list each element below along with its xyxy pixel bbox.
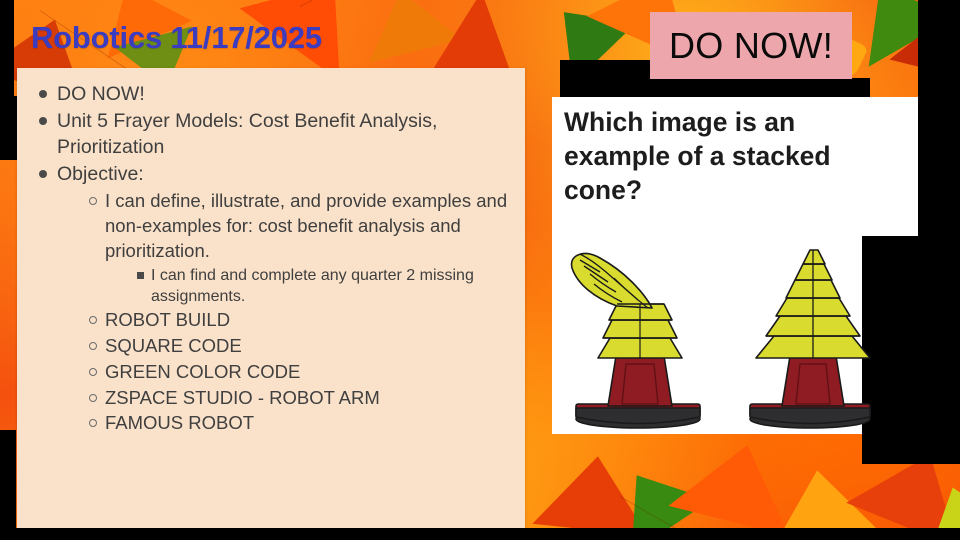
bullet-glyph	[137, 272, 144, 279]
agenda-list: DO NOW!Unit 5 Frayer Models: Cost Benefi…	[17, 68, 525, 436]
agenda-item: I can define, illustrate, and provide ex…	[17, 189, 515, 263]
agenda-item-label: ROBOT BUILD	[105, 308, 515, 333]
bullet-circle-icon	[17, 189, 105, 205]
agenda-item-label: Objective:	[57, 162, 515, 187]
bullet-glyph	[89, 342, 97, 350]
agenda-item-label: DO NOW!	[57, 82, 515, 107]
bullet-disc-icon	[17, 162, 57, 178]
bullet-disc-icon	[17, 82, 57, 98]
bullet-square-icon	[17, 265, 151, 279]
agenda-panel: DO NOW!Unit 5 Frayer Models: Cost Benefi…	[17, 68, 525, 528]
do-now-banner: DO NOW!	[650, 12, 852, 79]
bullet-glyph	[89, 394, 97, 402]
agenda-item: DO NOW!	[17, 82, 515, 107]
do-now-question: Which image is an example of a stacked c…	[564, 106, 894, 208]
agenda-item: ROBOT BUILD	[17, 308, 515, 333]
bullet-glyph	[89, 419, 97, 427]
bullet-glyph	[39, 117, 47, 125]
letterbox-bar-left-mid	[0, 96, 18, 160]
straight-cone-svg	[740, 238, 890, 430]
do-now-banner-label: DO NOW!	[669, 28, 833, 64]
agenda-item-label: I can find and complete any quarter 2 mi…	[151, 265, 515, 308]
agenda-item: Objective:	[17, 162, 515, 187]
bullet-circle-icon	[17, 308, 105, 324]
agenda-item: FAMOUS ROBOT	[17, 411, 515, 436]
bullet-circle-icon	[17, 360, 105, 376]
agenda-item: I can find and complete any quarter 2 mi…	[17, 265, 515, 308]
agenda-item-label: SQUARE CODE	[105, 334, 515, 359]
agenda-item-label: I can define, illustrate, and provide ex…	[105, 189, 515, 263]
letterbox-bar-bottom	[0, 528, 960, 540]
bullet-circle-icon	[17, 411, 105, 427]
bullet-glyph	[89, 197, 97, 205]
agenda-item-label: ZSPACE STUDIO - ROBOT ARM	[105, 386, 515, 411]
bullet-disc-icon	[17, 109, 57, 125]
agenda-item: ZSPACE STUDIO - ROBOT ARM	[17, 386, 515, 411]
leaning-cone-image	[560, 238, 720, 430]
agenda-item-label: GREEN COLOR CODE	[105, 360, 515, 385]
agenda-item: Unit 5 Frayer Models: Cost Benefit Analy…	[17, 109, 515, 160]
bullet-glyph	[89, 368, 97, 376]
bullet-glyph	[39, 170, 47, 178]
bullet-glyph	[89, 316, 97, 324]
straight-stacked-cone-image	[740, 238, 890, 430]
leaning-cone-svg	[560, 238, 720, 430]
agenda-item: GREEN COLOR CODE	[17, 360, 515, 385]
bullet-circle-icon	[17, 334, 105, 350]
letterbox-bar-top-left	[0, 0, 14, 96]
agenda-item-label: FAMOUS ROBOT	[105, 411, 515, 436]
agenda-item: SQUARE CODE	[17, 334, 515, 359]
letterbox-bar-left-bottom	[0, 430, 16, 530]
bullet-glyph	[39, 90, 47, 98]
slide-canvas: Robotics 11/17/2025 DO NOW!Unit 5 Frayer…	[0, 0, 960, 540]
letterbox-bar-right	[918, 0, 960, 110]
bullet-circle-icon	[17, 386, 105, 402]
agenda-item-label: Unit 5 Frayer Models: Cost Benefit Analy…	[57, 109, 515, 160]
slide-title: Robotics 11/17/2025	[31, 20, 322, 56]
letterbox-bar-top-mid	[560, 60, 652, 100]
